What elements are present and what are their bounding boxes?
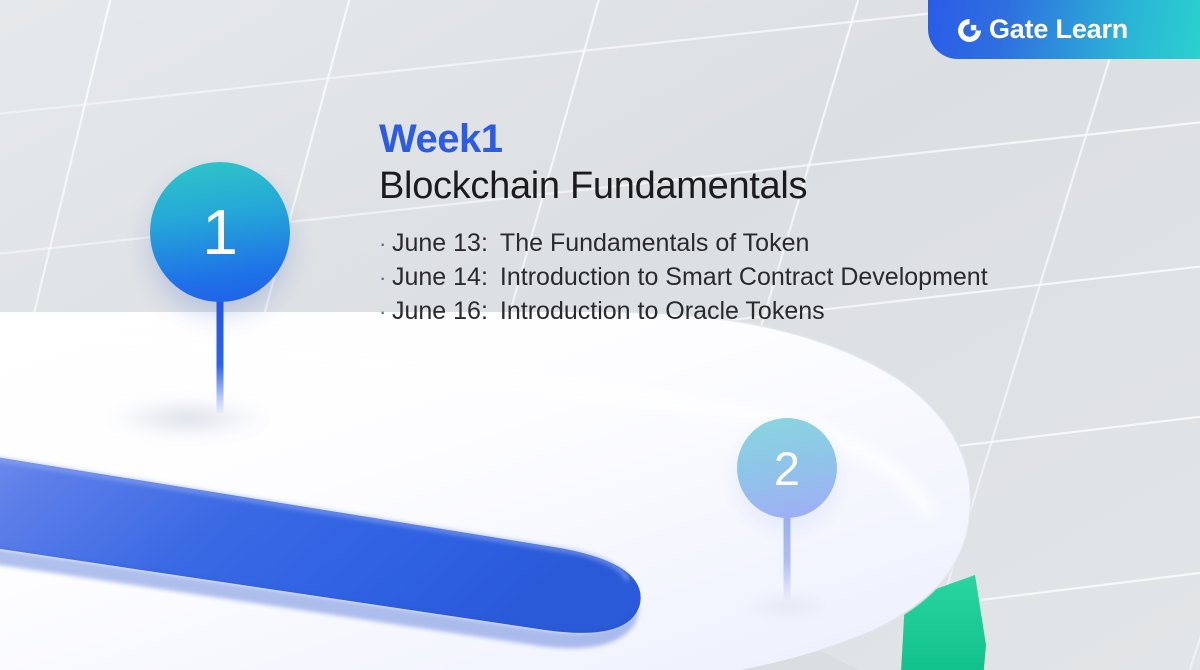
marker-2-stem (784, 510, 791, 602)
perspective-grid-background (0, 0, 1200, 670)
week-label: Week1 (379, 118, 1119, 161)
session-date: June 14: (392, 260, 488, 294)
session-item: · June 14: Introduction to Smart Contrac… (379, 260, 1119, 294)
session-name: Introduction to Smart Contract Developme… (500, 260, 988, 294)
gate-learn-badge[interactable]: Gate Learn (928, 0, 1200, 59)
3d-road-platform (0, 0, 1200, 670)
course-content-block: Week1 Blockchain Fundamentals · June 13:… (379, 118, 1119, 328)
session-bullet-icon: · (379, 233, 392, 255)
session-list: · June 13: The Fundamentals of Token · J… (379, 226, 1119, 328)
session-name: The Fundamentals of Token (500, 226, 809, 260)
session-date: June 13: (392, 226, 488, 260)
marker-1-stem (217, 292, 224, 414)
session-name: Introduction to Oracle Tokens (500, 294, 825, 328)
session-bullet-icon: · (379, 301, 392, 323)
session-item: · June 16: Introduction to Oracle Tokens (379, 294, 1119, 328)
session-bullet-icon: · (379, 267, 392, 289)
milestone-marker-1[interactable]: 1 (150, 162, 290, 442)
session-item: · June 13: The Fundamentals of Token (379, 226, 1119, 260)
marker-1-bubble: 1 (150, 162, 290, 302)
milestone-marker-2[interactable]: 2 (737, 418, 837, 618)
gate-learn-label: Gate Learn (989, 16, 1128, 43)
gate-circle-logo-icon (956, 17, 983, 44)
session-date: June 16: (392, 294, 488, 328)
marker-2-bubble: 2 (737, 418, 837, 518)
promo-banner: 2 1 Gate Learn Week1 Blockchain Fundamen… (0, 0, 1200, 670)
topic-title: Blockchain Fundamentals (379, 163, 1119, 209)
